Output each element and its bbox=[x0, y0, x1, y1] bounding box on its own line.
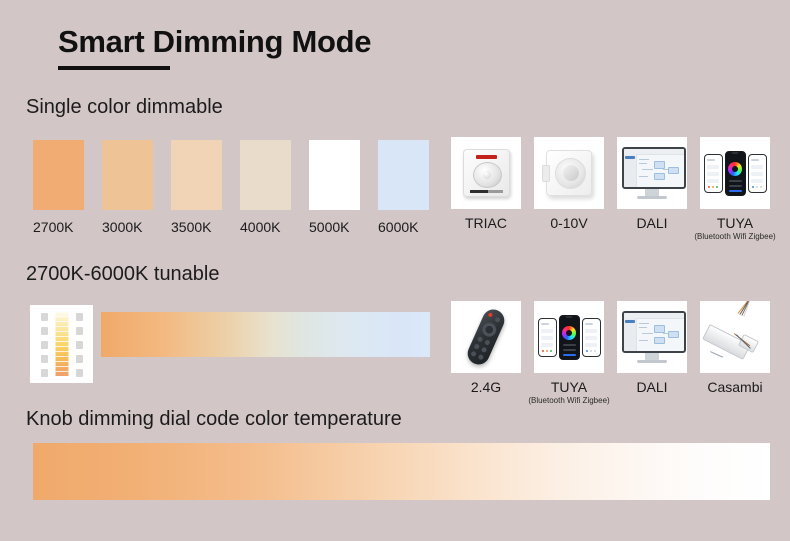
swatch-2700k: 2700K bbox=[33, 140, 102, 235]
temperature-slider-icon bbox=[563, 349, 576, 352]
device-tuya-single[interactable]: TUYA (Bluetooth Wifi Zigbee) bbox=[700, 137, 770, 241]
panel-icon bbox=[41, 369, 48, 377]
indicator-led-icon bbox=[476, 155, 497, 159]
phone-right-icon bbox=[748, 154, 767, 193]
panel-icon bbox=[41, 313, 48, 321]
triac-dimmer-icon bbox=[463, 149, 510, 197]
phone-dot-icon bbox=[550, 350, 553, 353]
dpad-ring-icon bbox=[480, 320, 498, 338]
phone-dot-icon bbox=[752, 186, 755, 189]
panel-icon bbox=[76, 327, 83, 335]
panel-icon bbox=[41, 327, 48, 335]
section-heading-tunable: 2700K-6000K tunable bbox=[26, 263, 220, 286]
diagram-node-icon bbox=[654, 337, 665, 344]
phone-dot-icon bbox=[586, 350, 589, 353]
remote-control-thumbnail bbox=[451, 301, 521, 373]
knob-dimming-gradient-bar bbox=[33, 443, 770, 500]
section-heading-knob-dimming: Knob dimming dial code color temperature bbox=[26, 408, 402, 431]
rgb-color-wheel-icon bbox=[562, 326, 576, 340]
dali-monitor-thumbnail bbox=[617, 301, 687, 373]
casambi-driver-thumbnail bbox=[700, 301, 770, 373]
temperature-slider-icon bbox=[729, 185, 742, 188]
diagram-node-icon bbox=[654, 161, 665, 169]
swatch-color-3500k bbox=[171, 140, 222, 210]
app-tag-icon bbox=[625, 320, 635, 323]
diagram-text-line-icon bbox=[639, 176, 648, 177]
remote-button-icon bbox=[481, 347, 488, 354]
phone-card-icon bbox=[751, 172, 763, 176]
swatch-label-4000k: 4000K bbox=[240, 219, 309, 235]
remote-button-icon bbox=[470, 351, 477, 358]
phone-right-icon bbox=[582, 318, 601, 357]
phone-card-icon bbox=[585, 336, 597, 340]
device-sublabel-tuya-tunable: (Bluetooth Wifi Zigbee) bbox=[528, 396, 609, 405]
phone-dot-icon bbox=[708, 186, 711, 189]
led-driver-icon bbox=[704, 307, 766, 367]
phone-dot-icon bbox=[542, 350, 545, 353]
tunable-device-row: 2.4G bbox=[451, 301, 770, 405]
swatch-color-2700k bbox=[33, 140, 84, 210]
brightness-slider-icon bbox=[563, 344, 576, 347]
device-sublabel-tuya-single: (Bluetooth Wifi Zigbee) bbox=[694, 232, 775, 241]
phone-dot-icon bbox=[712, 186, 715, 189]
device-triac[interactable]: TRIAC bbox=[451, 137, 521, 241]
phone-notch-icon bbox=[566, 316, 573, 318]
remote-button-icon bbox=[478, 354, 485, 361]
device-label-0-10v: 0-10V bbox=[550, 216, 587, 231]
remote-button-icon bbox=[484, 339, 491, 346]
tuya-phones-thumbnail bbox=[534, 301, 604, 373]
diagram-connector-icon bbox=[663, 333, 668, 334]
phone-card-icon bbox=[751, 165, 763, 169]
diagram-node-icon bbox=[654, 325, 665, 333]
swatch-label-6000k: 6000K bbox=[378, 219, 447, 235]
single-color-device-row: TRIAC 0-10V bbox=[451, 137, 770, 241]
diagram-text-line-icon bbox=[639, 163, 647, 164]
device-label-tuya-single: TUYA bbox=[717, 216, 753, 231]
brightness-slider-icon bbox=[729, 180, 742, 183]
device-label-casambi: Casambi bbox=[707, 380, 762, 395]
panel-gradient-strip bbox=[55, 312, 68, 376]
diagram-text-line-icon bbox=[639, 159, 649, 160]
phone-dot-icon bbox=[594, 350, 597, 353]
remote-button-icon bbox=[474, 343, 481, 350]
smartphone-app-icon bbox=[704, 151, 767, 196]
phone-left-icon bbox=[538, 318, 557, 357]
swatch-color-3000k bbox=[102, 140, 153, 210]
swatch-4000k: 4000K bbox=[240, 140, 309, 235]
monitor-screen-icon bbox=[622, 147, 686, 189]
phone-card-icon bbox=[541, 336, 553, 340]
diagram-connector-icon bbox=[642, 333, 653, 334]
swatch-6000k: 6000K bbox=[378, 140, 447, 235]
plate-tab-icon bbox=[542, 165, 550, 182]
swatch-label-3000k: 3000K bbox=[102, 219, 171, 235]
remote-control-icon bbox=[464, 306, 508, 368]
diagram-node-icon bbox=[668, 331, 679, 338]
panel-icon bbox=[76, 355, 83, 363]
swatch-color-4000k bbox=[240, 140, 291, 210]
monitor-base-icon bbox=[637, 360, 667, 363]
monitor-base-icon bbox=[637, 196, 667, 199]
phone-card-icon bbox=[585, 329, 597, 333]
swatch-color-5000k bbox=[309, 140, 360, 210]
phone-header-icon bbox=[707, 159, 715, 161]
device-tuya-tunable[interactable]: TUYA (Bluetooth Wifi Zigbee) bbox=[534, 301, 604, 405]
phone-card-icon bbox=[541, 329, 553, 333]
phone-dot-icon bbox=[756, 186, 759, 189]
color-temperature-swatch-row: 2700K 3000K 3500K 4000K 5000K 6000K bbox=[33, 140, 447, 235]
desktop-monitor-icon bbox=[622, 311, 682, 363]
diagram-node-icon bbox=[668, 167, 679, 174]
tunable-gradient-bar bbox=[101, 312, 430, 357]
swatch-color-6000k bbox=[378, 140, 429, 210]
swatch-label-2700k: 2700K bbox=[33, 219, 102, 235]
power-button-icon bbox=[488, 312, 493, 317]
touch-panel-icon bbox=[30, 305, 93, 383]
page-title: Smart Dimming Mode bbox=[58, 24, 371, 60]
diagram-text-line-icon bbox=[639, 327, 647, 328]
monitor-screen-icon bbox=[622, 311, 686, 353]
scene-slider-icon bbox=[563, 354, 576, 357]
monitor-stand-icon bbox=[645, 189, 659, 196]
device-dali-single[interactable]: DALI bbox=[617, 137, 687, 241]
app-tag-icon bbox=[625, 156, 635, 159]
dimmer-knob-icon bbox=[473, 162, 502, 188]
device-dali-tunable[interactable]: DALI bbox=[617, 301, 687, 405]
rotary-dimmer-icon bbox=[546, 150, 592, 196]
phone-card-icon bbox=[707, 179, 719, 183]
device-label-dali-single: DALI bbox=[636, 216, 667, 231]
rgb-color-wheel-icon bbox=[728, 162, 742, 176]
device-label-triac: TRIAC bbox=[465, 216, 507, 231]
triac-dimmer-thumbnail bbox=[451, 137, 521, 209]
swatch-label-5000k: 5000K bbox=[309, 219, 378, 235]
phone-header-icon bbox=[541, 323, 549, 325]
scene-slider-icon bbox=[729, 190, 742, 193]
swatch-label-3500k: 3500K bbox=[171, 219, 240, 235]
phone-card-icon bbox=[707, 165, 719, 169]
device-casambi[interactable]: Casambi bbox=[700, 301, 770, 405]
phone-left-icon bbox=[704, 154, 723, 193]
smartphone-app-icon bbox=[538, 315, 601, 360]
phone-header-icon bbox=[585, 323, 593, 325]
title-underline bbox=[58, 66, 170, 70]
panel-icon bbox=[41, 341, 48, 349]
phone-notch-icon bbox=[732, 152, 739, 154]
desktop-monitor-icon bbox=[622, 147, 682, 199]
diagram-node-icon bbox=[654, 173, 665, 180]
phone-dot-icon bbox=[716, 186, 719, 189]
section-heading-single-color: Single color dimmable bbox=[26, 96, 223, 119]
panel-icon bbox=[76, 341, 83, 349]
phone-dot-icon bbox=[546, 350, 549, 353]
phone-dot-icon bbox=[590, 350, 593, 353]
remote-button-icon bbox=[494, 316, 501, 323]
swatch-3500k: 3500K bbox=[171, 140, 240, 235]
device-label-24g: 2.4G bbox=[471, 380, 501, 395]
rotary-dimmer-thumbnail bbox=[534, 137, 604, 209]
rotary-knob-icon bbox=[555, 158, 586, 189]
device-label-tuya-tunable: TUYA bbox=[551, 380, 587, 395]
swatch-3000k: 3000K bbox=[102, 140, 171, 235]
device-label-dali-tunable: DALI bbox=[636, 380, 667, 395]
phone-card-icon bbox=[585, 343, 597, 347]
dali-monitor-thumbnail bbox=[617, 137, 687, 209]
driver-wire-icon bbox=[710, 351, 723, 358]
phone-card-icon bbox=[707, 172, 719, 176]
panel-left-icon-column bbox=[37, 313, 51, 377]
panel-right-icon-column bbox=[72, 313, 86, 377]
remote-button-icon bbox=[477, 336, 484, 343]
panel-icon bbox=[76, 313, 83, 321]
panel-icon bbox=[41, 355, 48, 363]
diagram-text-line-icon bbox=[639, 340, 648, 341]
monitor-stand-icon bbox=[645, 353, 659, 360]
phone-center-color-wheel-icon bbox=[559, 315, 580, 360]
label-strip-icon bbox=[470, 190, 503, 193]
device-0-10v[interactable]: 0-10V bbox=[534, 137, 604, 241]
phone-dot-icon bbox=[760, 186, 763, 189]
phone-card-icon bbox=[541, 343, 553, 347]
swatch-5000k: 5000K bbox=[309, 140, 378, 235]
diagram-connector-icon bbox=[642, 169, 653, 170]
panel-icon bbox=[76, 369, 83, 377]
smart-dimming-mode-page: Smart Dimming Mode Single color dimmable… bbox=[0, 0, 790, 541]
diagram-text-line-icon bbox=[639, 323, 649, 324]
phone-card-icon bbox=[751, 179, 763, 183]
device-24g[interactable]: 2.4G bbox=[451, 301, 521, 405]
phone-center-color-wheel-icon bbox=[725, 151, 746, 196]
diagram-connector-icon bbox=[663, 169, 668, 170]
phone-header-icon bbox=[751, 159, 759, 161]
tuya-phones-thumbnail bbox=[700, 137, 770, 209]
